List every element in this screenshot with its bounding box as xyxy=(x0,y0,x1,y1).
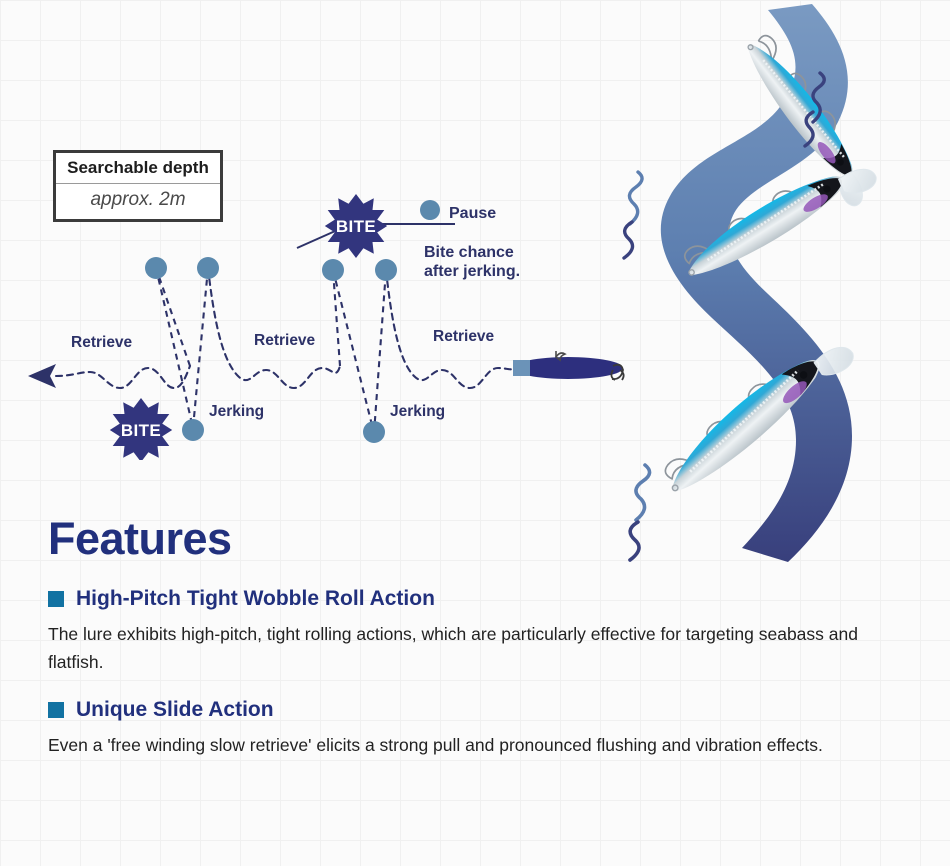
label-pause: Pause xyxy=(449,205,496,222)
label-bite-chance-line1: Bite chance xyxy=(424,244,514,261)
bite-badge-1: BITE xyxy=(110,398,172,460)
waypoint-dot-jerk-bottom-2 xyxy=(363,421,385,443)
label-retrieve-2: Retrieve xyxy=(254,332,316,349)
squiggle-bottom-left-1 xyxy=(636,465,650,520)
retrieve-jerking-diagram: BITE BITE Retrieve Retrieve Retrieve Jer… xyxy=(0,180,660,460)
lure-slide-action-artwork xyxy=(600,0,950,600)
label-jerking-1: Jerking xyxy=(209,403,264,420)
label-jerking-2: Jerking xyxy=(390,403,445,420)
squiggle-mid-left-2 xyxy=(624,222,633,258)
jerking-path-1-down xyxy=(156,268,193,428)
feature-2-body: Even a 'free winding slow retrieve' elic… xyxy=(48,732,878,760)
waypoint-dot-jerk-top-3 xyxy=(322,259,344,281)
jerking-path-1-up xyxy=(156,268,190,366)
feature-2-heading-row: Unique Slide Action xyxy=(48,698,908,721)
feature-1-body: The lure exhibits high-pitch, tight roll… xyxy=(48,621,878,676)
features-title: Features xyxy=(48,516,908,561)
label-retrieve-1: Retrieve xyxy=(71,334,133,351)
waypoint-dot-jerk-top-2 xyxy=(197,257,219,279)
retrieve-path-2 xyxy=(208,268,340,388)
square-bullet-icon xyxy=(48,702,64,718)
jerking-path-1-up2 xyxy=(193,268,208,428)
features-section: Features High-Pitch Tight Wobble Roll Ac… xyxy=(48,516,908,782)
bite-badge-2-label: BITE xyxy=(336,217,376,236)
feature-1-heading: High-Pitch Tight Wobble Roll Action xyxy=(76,587,435,610)
square-bullet-icon xyxy=(48,591,64,607)
waypoint-dot-jerk-top-4 xyxy=(375,259,397,281)
infographic-page: Searchable depth approx. 2m xyxy=(0,0,950,866)
label-retrieve-3: Retrieve xyxy=(433,328,495,345)
waypoint-dot-jerk-top-1 xyxy=(145,257,167,279)
bite-badge-2: BITE xyxy=(325,194,387,258)
feature-item-2: Unique Slide Action Even a 'free winding… xyxy=(48,698,908,760)
bite-badge-1-label: BITE xyxy=(121,421,161,440)
pause-legend-dot xyxy=(420,200,440,220)
feature-2-heading: Unique Slide Action xyxy=(76,698,274,721)
squiggle-mid-left-1 xyxy=(629,172,642,224)
retrieve-path-1 xyxy=(56,366,190,388)
jerking-path-2-up2 xyxy=(374,270,386,433)
feature-1-heading-row: High-Pitch Tight Wobble Roll Action xyxy=(48,587,908,610)
label-bite-chance-line2: after jerking. xyxy=(424,263,520,280)
waypoint-dot-jerk-bottom-1 xyxy=(182,419,204,441)
feature-item-1: High-Pitch Tight Wobble Roll Action The … xyxy=(48,587,908,676)
retrieve-direction-arrow xyxy=(28,364,56,388)
